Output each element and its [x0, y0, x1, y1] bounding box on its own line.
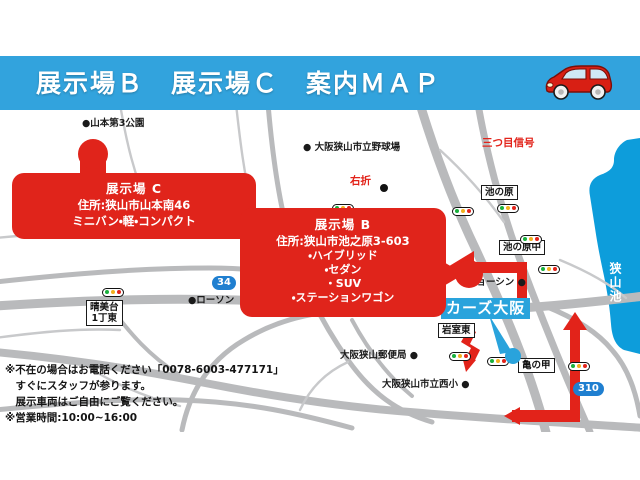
dealer-location-dot	[505, 348, 521, 364]
intersection-ikenohara: 池の原	[481, 185, 518, 200]
direction-label-third-signal: 三つ目信号	[482, 138, 535, 149]
poi-label-post-office: 大阪狭山郵便局 ●	[340, 350, 418, 361]
poi-label-yamamoto-park: ●山本第3公園	[82, 118, 144, 129]
callout-b-item-2: ・SUV	[246, 277, 440, 291]
notice-text: ※不在の場合はお電話ください「0078-6003-477171」 すぐにスタッフ…	[5, 362, 305, 426]
callout-b-item-0: ・ハイブリッド	[246, 249, 440, 263]
route-shield-310: 310	[573, 382, 604, 396]
page-title: 展示場Ｂ 展示場Ｃ 案内ＭＡＰ	[36, 66, 536, 102]
traffic-signal	[538, 265, 560, 274]
callout-c-item-0: ミニバン・軽・コンパクト	[18, 213, 250, 229]
callout-c-title: 展示場 C	[18, 181, 250, 197]
route-shield-34: 34	[212, 276, 236, 290]
traffic-signal	[452, 207, 474, 216]
intersection-kamenoko: 亀の甲	[518, 358, 555, 373]
poi-label-baseball-stadium: ● 大阪狭山市立野球場	[303, 142, 400, 153]
traffic-signal	[497, 204, 519, 213]
intersection-harumidai: 晴美台 1丁東	[86, 300, 123, 326]
poi-label-lawson: ●ローソン	[188, 295, 234, 306]
poi-dot-generic	[380, 184, 388, 192]
callout-site-b: 展示場 B 住所:狭山市池之原3-603 ・ハイブリッド ・セダン ・SUV ・…	[240, 208, 446, 317]
traffic-signal	[520, 235, 542, 244]
red-car-icon	[541, 61, 615, 105]
map-flyer: 展示場Ｂ 展示場Ｃ 案内ＭＡＰ	[0, 0, 640, 480]
direction-label-turn-right: 右折	[350, 176, 371, 187]
lake-shape	[589, 138, 640, 354]
callout-b-item-1: ・セダン	[246, 263, 440, 277]
callout-site-c: 展示場 C 住所:狭山市山本南46 ミニバン・軽・コンパクト	[12, 173, 256, 239]
traffic-signal	[449, 352, 471, 361]
callout-b-address: 住所:狭山市池之原3-603	[246, 233, 440, 249]
traffic-signal	[568, 362, 590, 371]
callout-b-item-3: ・ステーションワゴン	[246, 291, 440, 305]
callout-b-title: 展示場 B	[246, 217, 440, 233]
callout-c-pointer	[60, 138, 140, 182]
poi-label-nishi-school: 大阪狭山市立西小 ●	[382, 379, 470, 390]
traffic-signal	[102, 288, 124, 297]
intersection-iwamuro-higashi: 岩室東	[438, 323, 475, 338]
callout-c-address: 住所:狭山市山本南46	[18, 197, 250, 213]
lake-label: 狭山池	[608, 262, 622, 304]
